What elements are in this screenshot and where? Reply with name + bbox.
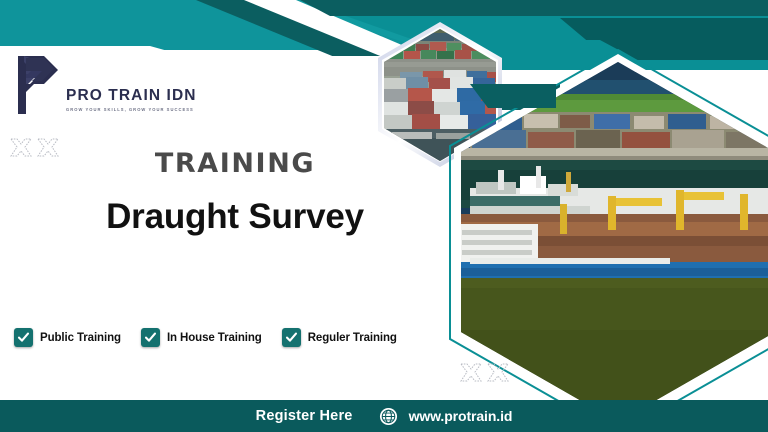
x-cross-decoration-right <box>458 361 514 387</box>
option-in-house-training[interactable]: In House Training <box>141 328 262 347</box>
website-url[interactable]: www.protrain.id <box>409 408 513 424</box>
checkbox-checked-icon[interactable] <box>141 328 160 347</box>
footer-bar: Register Here www.protrain.id <box>0 400 768 432</box>
poster-canvas: PRO TRAIN IDN GROW YOUR SKILLS, GROW YOU… <box>0 0 768 432</box>
arrow-p-logo-icon <box>14 54 60 116</box>
kicker-text: TRAINING <box>0 150 470 177</box>
option-label: Reguler Training <box>308 332 397 344</box>
brand-name: PRO TRAIN IDN <box>66 88 197 104</box>
page-title: Draught Survey <box>0 199 470 234</box>
checkbox-checked-icon[interactable] <box>282 328 301 347</box>
option-label: Public Training <box>40 332 121 344</box>
headline-block: TRAINING Draught Survey <box>0 150 470 234</box>
brand-logo[interactable]: PRO TRAIN IDN GROW YOUR SKILLS, GROW YOU… <box>14 54 197 116</box>
option-reguler-training[interactable]: Reguler Training <box>282 328 397 347</box>
brand-tagline: GROW YOUR SKILLS, GROW YOUR SUCCESS <box>66 107 197 112</box>
website-block[interactable]: www.protrain.id <box>379 407 513 426</box>
option-public-training[interactable]: Public Training <box>14 328 121 347</box>
checkbox-checked-icon[interactable] <box>14 328 33 347</box>
globe-icon <box>379 407 398 426</box>
option-label: In House Training <box>167 332 262 344</box>
register-here-label[interactable]: Register Here <box>256 408 353 424</box>
brand-logo-text: PRO TRAIN IDN GROW YOUR SKILLS, GROW YOU… <box>66 88 197 116</box>
training-type-options: Public Training In House Training Regule… <box>14 328 397 347</box>
